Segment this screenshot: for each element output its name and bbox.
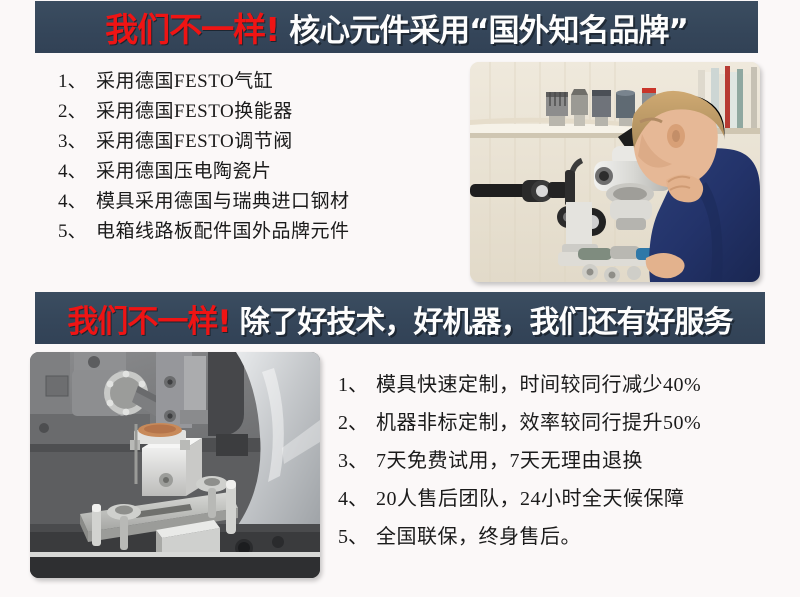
list-item-text: 采用德国FESTO气缸 <box>96 66 273 93</box>
list-item: 1、 采用德国FESTO气缸 <box>58 66 350 96</box>
banner-bottom-highlight: 我们不一样! <box>67 296 230 341</box>
list-item-text: 模具采用德国与瑞典进口钢材 <box>96 186 350 213</box>
list-item-number: 3、 <box>338 444 376 473</box>
list-item-text: 采用德国FESTO换能器 <box>96 96 293 123</box>
photo-machine-tooling <box>30 352 320 578</box>
list-item: 4、 20人售后团队，24小时全天候保障 <box>338 482 701 520</box>
microscope-scene-illustration <box>470 62 760 282</box>
service-list: 1、 模具快速定制，时间较同行减少40% 2、 机器非标定制，效率较同行提升50… <box>338 368 701 558</box>
machine-tooling-illustration <box>30 352 320 578</box>
list-item: 2、 机器非标定制，效率较同行提升50% <box>338 406 701 444</box>
banner-top-statement: 核心元件采用“国外知名品牌” <box>289 5 688 50</box>
list-item-number: 1、 <box>58 66 96 93</box>
banner-top-highlight: 我们不一样! <box>105 3 279 51</box>
list-item-number: 4、 <box>58 186 96 213</box>
list-item-text: 采用德国FESTO调节阀 <box>96 126 293 153</box>
promotional-page: 我们不一样! 核心元件采用“国外知名品牌” 1、 采用德国FESTO气缸 2、 … <box>0 0 800 597</box>
list-item: 5、 全国联保，终身售后。 <box>338 520 701 558</box>
list-item-text: 采用德国压电陶瓷片 <box>96 156 272 183</box>
banner-bottom-statement: 除了好技术，好机器，我们还有好服务 <box>240 297 733 341</box>
components-list: 1、 采用德国FESTO气缸 2、 采用德国FESTO换能器 3、 采用德国FE… <box>58 66 350 246</box>
list-item-text: 机器非标定制，效率较同行提升50% <box>376 406 701 435</box>
list-item-text: 电箱线路板配件国外品牌元件 <box>96 216 350 243</box>
list-item-number: 2、 <box>58 96 96 123</box>
list-item-number: 5、 <box>58 216 96 243</box>
list-item: 5、 电箱线路板配件国外品牌元件 <box>58 216 350 246</box>
list-item-number: 5、 <box>338 520 376 549</box>
list-item: 4、 模具采用德国与瑞典进口钢材 <box>58 186 350 216</box>
photo-microscope-inspection <box>470 62 760 282</box>
list-item-number: 2、 <box>338 406 376 435</box>
list-item-number: 3、 <box>58 126 96 153</box>
banner-top-content: 我们不一样! 核心元件采用“国外知名品牌” <box>35 3 758 51</box>
list-item-number: 1、 <box>338 368 376 397</box>
list-item-text: 全国联保，终身售后。 <box>376 520 581 549</box>
list-item: 3、 采用德国FESTO调节阀 <box>58 126 350 156</box>
list-item-text: 20人售后团队，24小时全天候保障 <box>376 482 685 511</box>
banner-core-components: 我们不一样! 核心元件采用“国外知名品牌” <box>35 1 758 53</box>
list-item: 3、 7天免费试用，7天无理由退换 <box>338 444 701 482</box>
banner-service: 我们不一样! 除了好技术，好机器，我们还有好服务 <box>35 292 765 344</box>
list-item-number: 4、 <box>58 156 96 183</box>
list-item: 2、 采用德国FESTO换能器 <box>58 96 350 126</box>
list-item: 4、 采用德国压电陶瓷片 <box>58 156 350 186</box>
list-item-text: 7天免费试用，7天无理由退换 <box>376 444 643 473</box>
banner-bottom-content: 我们不一样! 除了好技术，好机器，我们还有好服务 <box>35 296 765 341</box>
list-item: 1、 模具快速定制，时间较同行减少40% <box>338 368 701 406</box>
list-item-text: 模具快速定制，时间较同行减少40% <box>376 368 701 397</box>
list-item-number: 4、 <box>338 482 376 511</box>
